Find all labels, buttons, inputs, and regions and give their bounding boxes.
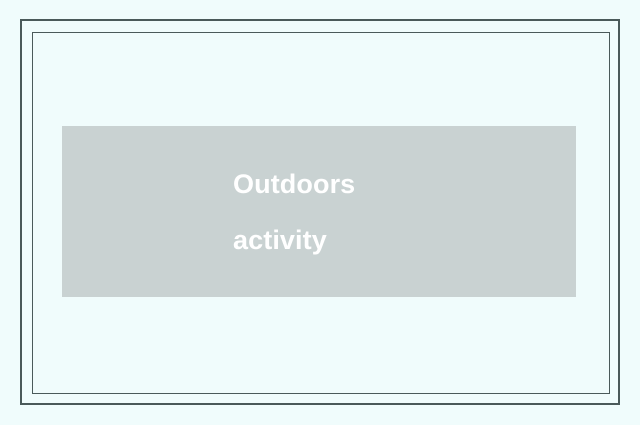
media-caption: Outdoors activity	[233, 156, 355, 268]
page-canvas: Outdoors activity	[0, 0, 640, 425]
media-placeholder-block: Outdoors activity	[62, 126, 576, 297]
media-caption-line-1: Outdoors	[233, 156, 355, 212]
media-caption-line-2: activity	[233, 212, 355, 268]
